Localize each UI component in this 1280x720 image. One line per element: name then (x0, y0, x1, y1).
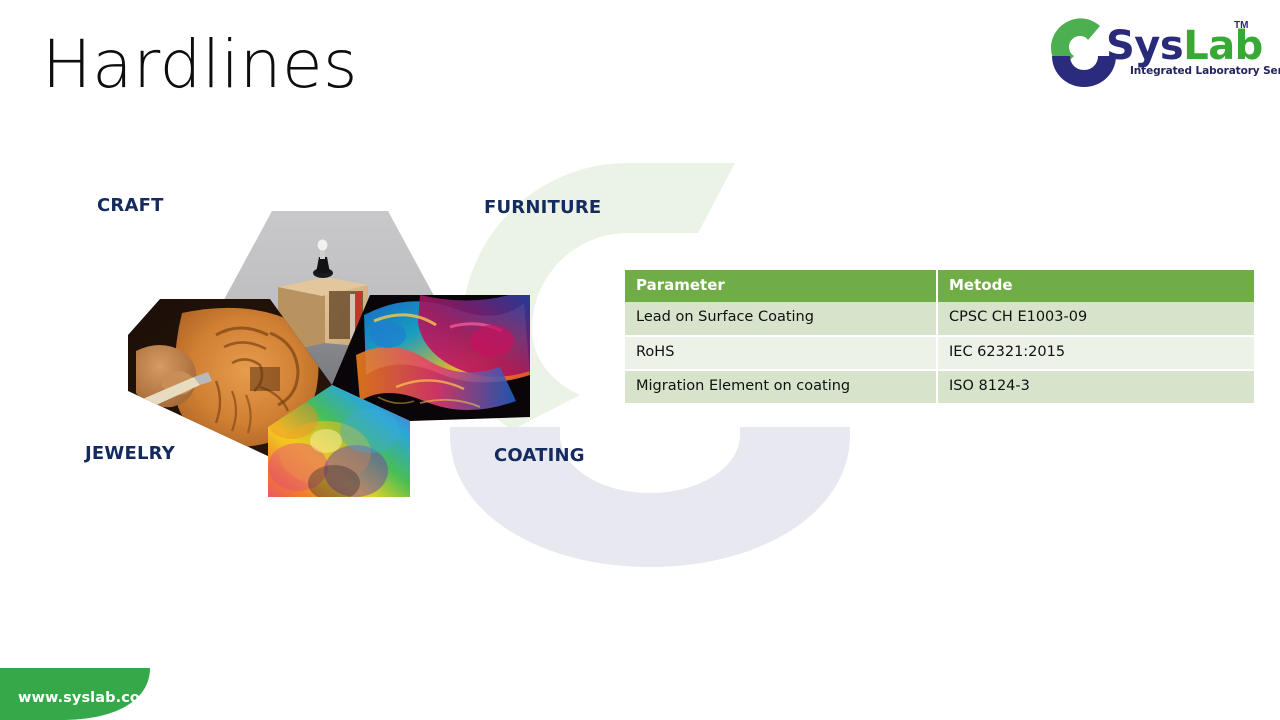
hardlines-image-collage (120, 195, 540, 515)
logo-word-sys: Sys (1106, 23, 1183, 69)
table-header-row: Parameter Metode (625, 270, 1254, 302)
slide-canvas: Hardlines SysLab TM Integrated Laborator… (0, 0, 1280, 720)
hardlines-parameter-table: Parameter Metode Lead on Surface Coating… (625, 270, 1254, 403)
cell-parameter: RoHS (625, 336, 937, 370)
cell-metode: CPSC CH E1003-09 (937, 302, 1254, 335)
table-row: Migration Element on coating ISO 8124-3 (625, 370, 1254, 403)
table-header-parameter: Parameter (625, 270, 937, 302)
table-header-metode: Metode (937, 270, 1254, 302)
logo-word-lab: Lab (1183, 23, 1263, 69)
logo-tagline: Integrated Laboratory Services (1130, 65, 1280, 77)
table-row: RoHS IEC 62321:2015 (625, 336, 1254, 370)
logo-trademark: TM (1234, 20, 1248, 31)
cell-parameter: Lead on Surface Coating (625, 302, 937, 335)
syslab-logo: SysLab TM Integrated Laboratory Services (1048, 14, 1258, 92)
table-row: Lead on Surface Coating CPSC CH E1003-09 (625, 302, 1254, 335)
cell-metode: IEC 62321:2015 (937, 336, 1254, 370)
cell-parameter: Migration Element on coating (625, 370, 937, 403)
footer-website-url[interactable]: www.syslab.co.id (18, 690, 161, 706)
page-title: Hardlines (42, 32, 358, 98)
cell-metode: ISO 8124-3 (937, 370, 1254, 403)
